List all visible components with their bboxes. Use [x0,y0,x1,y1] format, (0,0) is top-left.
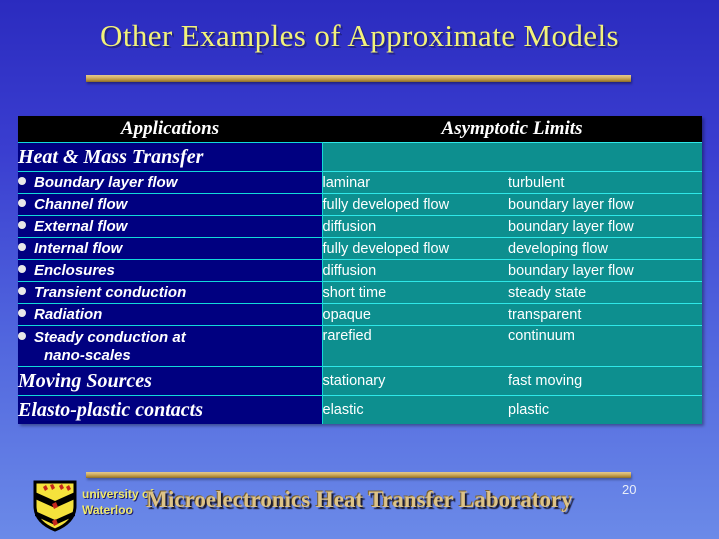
row-limit1-enclosures: diffusion [322,260,508,282]
row-label-text: Transient conduction [34,284,186,301]
bullet-icon [18,332,26,340]
row-limit2-channel-flow: boundary layer flow [508,194,702,216]
row-label-text: Radiation [34,306,102,323]
slide-canvas: Other Examples of Approximate Models App… [0,0,719,539]
row-limit2-transient-conduction: steady state [508,282,702,304]
table-row: External flow diffusion boundary layer f… [18,216,702,238]
row-label-text: Enclosures [34,262,115,279]
bullet-icon [18,177,26,185]
row-limit1-elasto-plastic-contacts: elastic [322,396,508,425]
column-header-applications: Applications [18,116,322,143]
row-limit2-external-flow: boundary layer flow [508,216,702,238]
row-limit1-internal-flow: fully developed flow [322,238,508,260]
row-limit1-radiation: opaque [322,304,508,326]
table-row: Channel flow fully developed flow bounda… [18,194,702,216]
bullet-icon [18,287,26,295]
table-row: Enclosures diffusion boundary layer flow [18,260,702,282]
row-limit2-heat-mass-transfer [508,143,702,172]
table-row: Steady conduction atnano-scales rarefied… [18,326,702,367]
row-label-transient-conduction: Transient conduction [18,282,322,304]
row-limit1-boundary-layer-flow: laminar [322,172,508,194]
row-limit1-channel-flow: fully developed flow [322,194,508,216]
row-limit2-elasto-plastic-contacts: plastic [508,396,702,425]
row-limit2-radiation: transparent [508,304,702,326]
table-header-row: Applications Asymptotic Limits [18,116,702,143]
bullet-icon [18,199,26,207]
row-limit1-steady-conduction: rarefied [322,326,508,367]
row-label-text: Steady conduction at [34,329,186,346]
row-label-steady-conduction-nano-scales: Steady conduction atnano-scales [18,326,322,367]
row-label-text: Channel flow [34,196,127,213]
row-label-external-flow: External flow [18,216,322,238]
row-label-boundary-layer-flow: Boundary layer flow [18,172,322,194]
table-row: Internal flow fully developed flow devel… [18,238,702,260]
row-label-channel-flow: Channel flow [18,194,322,216]
row-limit2-steady-conduction: continuum [508,326,702,367]
table-row: Moving Sources stationary fast moving [18,367,702,396]
row-label-elasto-plastic-contacts: Elasto-plastic contacts [18,396,322,425]
row-limit1-heat-mass-transfer [322,143,508,172]
bullet-icon [18,265,26,273]
row-label-heat-mass-transfer: Heat & Mass Transfer [18,143,322,172]
bullet-icon [18,243,26,251]
row-limit2-moving-sources: fast moving [508,367,702,396]
row-limit2-internal-flow: developing flow [508,238,702,260]
row-limit1-external-flow: diffusion [322,216,508,238]
row-label-text: Boundary layer flow [34,174,177,191]
footer-divider-rule [86,472,631,478]
table-row: Boundary layer flow laminar turbulent [18,172,702,194]
row-label-moving-sources: Moving Sources [18,367,322,396]
bullet-icon [18,309,26,317]
table-row: Radiation opaque transparent [18,304,702,326]
table-row: Elasto-plastic contacts elastic plastic [18,396,702,425]
table-row: Heat & Mass Transfer [18,143,702,172]
table-row: Transient conduction short time steady s… [18,282,702,304]
row-limit1-moving-sources: stationary [322,367,508,396]
column-header-asymptotic-limits: Asymptotic Limits [322,116,702,143]
row-label-internal-flow: Internal flow [18,238,322,260]
row-label-enclosures: Enclosures [18,260,322,282]
bullet-icon [18,221,26,229]
row-label-radiation: Radiation [18,304,322,326]
row-label-text: Internal flow [34,240,122,257]
lab-name-footer: Microelectronics Heat Transfer Laborator… [0,487,719,513]
slide-page-number: 20 [622,482,636,497]
title-divider-rule [86,75,631,82]
page-title: Other Examples of Approximate Models [0,18,719,54]
row-label-text-line2: nano-scales [18,347,322,364]
row-label-text: External flow [34,218,127,235]
row-limit2-boundary-layer-flow: turbulent [508,172,702,194]
row-limit1-transient-conduction: short time [322,282,508,304]
row-limit2-enclosures: boundary layer flow [508,260,702,282]
approximate-models-table: Applications Asymptotic Limits Heat & Ma… [18,116,702,424]
